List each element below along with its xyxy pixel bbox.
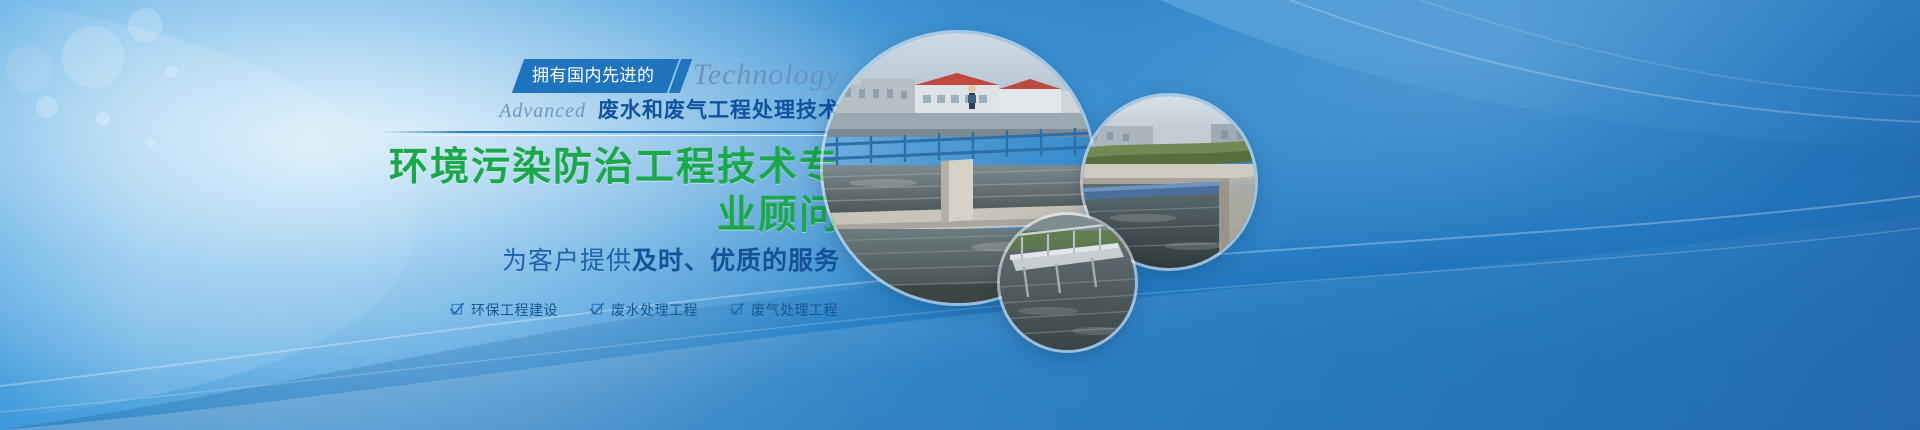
bubble-decoration (36, 96, 58, 118)
tagline: 为客户提供及时、优质的服务 (360, 244, 840, 280)
subtitle-row: Advanced 废水和废气工程处理技术 (360, 94, 840, 124)
bubble-decoration (146, 138, 155, 147)
tagline-light: 为客户提供 (502, 248, 632, 275)
bubble-decoration (96, 112, 110, 126)
divider-line-primary (382, 131, 840, 133)
feature-label: 环保工程建设 (471, 300, 558, 320)
subtitle-english: Advanced (499, 100, 586, 123)
divider-line-secondary (382, 135, 840, 136)
photo-walkway-basin (1000, 215, 1135, 350)
badge-chip: 拥有国内先进的 (512, 59, 679, 93)
promo-banner: 拥有国内先进的 Technology Advanced 废水和废气工程处理技术 … (0, 0, 1920, 430)
check-icon (590, 303, 604, 317)
feature-item-2: 废气处理工程 (730, 300, 838, 320)
bubble-decoration (128, 8, 162, 42)
feature-label: 废水处理工程 (611, 300, 698, 320)
check-icon (730, 303, 744, 317)
bubble-decoration (166, 66, 178, 78)
check-icon (450, 303, 464, 317)
feature-list: 环保工程建设 废水处理工程 废气处理工程 (360, 300, 840, 320)
banner-copy: 拥有国内先进的 Technology Advanced 废水和废气工程处理技术 … (360, 56, 840, 320)
feature-item-1: 废水处理工程 (590, 300, 698, 320)
badge-row: 拥有国内先进的 Technology (360, 56, 840, 96)
headline: 环境污染防治工程技术专业顾问 (360, 144, 840, 240)
badge-english: Technology (693, 56, 840, 96)
feature-item-0: 环保工程建设 (450, 300, 558, 320)
bubble-decoration (6, 46, 52, 92)
badge-label: 拥有国内先进的 (532, 59, 655, 93)
tagline-bold: 及时、优质的服务 (632, 248, 840, 275)
feature-label: 废气处理工程 (751, 300, 838, 320)
bubble-decoration (62, 26, 124, 88)
subtitle-chinese: 废水和废气工程处理技术 (598, 94, 840, 124)
